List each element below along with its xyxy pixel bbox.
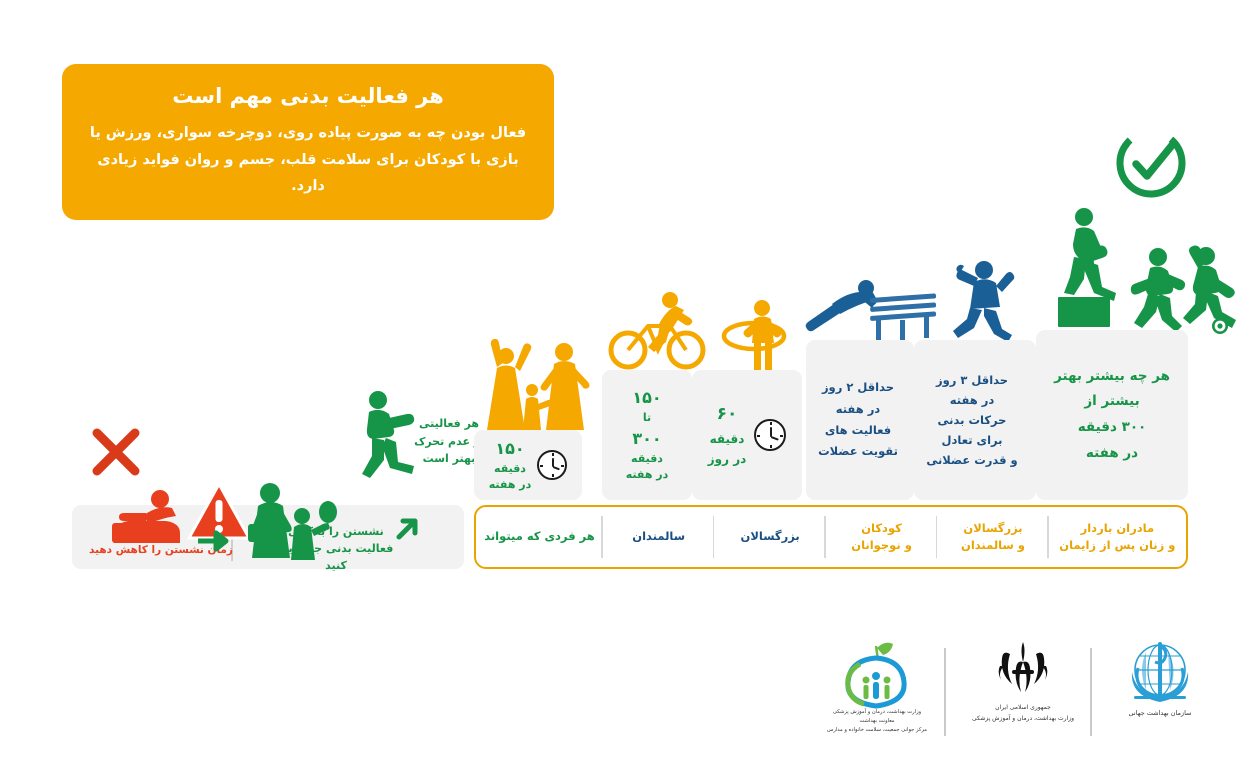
clock-icon <box>754 419 786 451</box>
panel-ae-line-0: ۱۵۰ <box>626 386 669 410</box>
panel-children-line-2: در روز <box>708 449 747 469</box>
footer-divider-1 <box>944 648 946 736</box>
panel-pregnant-line-2: در هفته <box>489 477 532 493</box>
panel-ae-line-3: دقیقه <box>626 451 669 468</box>
page-title: هر فعالیت بدنی مهم است <box>172 84 444 108</box>
panel-children-line-0: ۶۰ <box>708 400 747 429</box>
bench-pushup-figure-icon <box>806 270 946 340</box>
pregnant-mother-child-figures-icon <box>484 330 594 436</box>
panel-pregnant: ۱۵۰ دقیقه در هفته <box>474 430 582 500</box>
panel-ae-line-2: ۳۰۰ <box>626 427 669 451</box>
panel-children-text: ۶۰ دقیقه در روز <box>708 400 747 470</box>
panel-ae-line-4: در هفته <box>626 467 669 484</box>
panel-children-line-1: دقیقه <box>708 429 747 449</box>
step-up-figure-icon <box>1058 205 1128 327</box>
panel-am-line-3: در هفته <box>1054 441 1170 467</box>
iran-moh-emblem-caption: جمهوری اسلامی ایران وزارت بهداشت، درمان … <box>958 702 1088 725</box>
caption-line: مرکز جوانی جمعیت، سلامت خانواده و مدارس <box>812 726 942 735</box>
moh-family-health-logo: وزارت بهداشت، درمان و آموزش پزشکی معاونت… <box>812 640 942 740</box>
moh-family-health-caption: وزارت بهداشت، درمان و آموزش پزشکی معاونت… <box>812 708 942 735</box>
panel-pregnant-text: ۱۵۰ دقیقه در هفته <box>489 437 532 492</box>
panel-am-line-2: ۳۰۰ دقیقه <box>1054 415 1170 441</box>
caption-line: وزارت بهداشت، درمان و آموزش پزشکی <box>812 708 942 717</box>
header-subtitle: فعال بودن چه به صورت پیاده روی، دوچرخه س… <box>88 120 528 200</box>
arrow-up-right-icon <box>394 516 420 542</box>
iran-moh-emblem-logo: جمهوری اسلامی ایران وزارت بهداشت، درمان … <box>958 638 1088 738</box>
panel-as-line-2: فعالیت های <box>818 420 898 441</box>
header-subtitle-line-1: فعال بودن چه به صورت پیاده روی، دوچرخه س… <box>88 120 528 147</box>
panel-am-line-0: هر چه بیشتر بهتر <box>1054 364 1170 390</box>
replace-sitting-label: نشستن را با کمی فعالیت بدنی جایگزین کنید <box>272 523 400 559</box>
check-circle-icon <box>1112 124 1190 202</box>
who-logo: سازمان بهداشت جهانی <box>1100 636 1220 736</box>
panel-pregnant-line-0: ۱۵۰ <box>489 437 532 460</box>
panel-pregnant-line-1: دقیقه <box>489 461 532 477</box>
panel-children: ۶۰ دقیقه در روز <box>692 370 802 500</box>
step-walk-figure-icon <box>358 388 416 488</box>
soccer-player-figure-icon <box>1168 242 1256 334</box>
categories-bar: مادران باردار و زنان پس از زایمان بزرگسا… <box>474 505 1188 569</box>
clock-icon <box>537 450 567 480</box>
caption-line: جمهوری اسلامی ایران <box>958 702 1088 713</box>
panel-anyone-more: هر چه بیشتر بهتر بیشتر از ۳۰۰ دقیقه در ه… <box>1036 330 1188 500</box>
taichi-figure-icon <box>950 258 1014 342</box>
panel-eb-line-2: حرکات بدنی <box>926 410 1017 430</box>
panel-adults-elderly: ۱۵۰ تا ۳۰۰ دقیقه در هفته <box>602 370 692 500</box>
hula-hoop-figure-icon <box>716 296 794 376</box>
cyclist-figure-icon <box>608 288 708 370</box>
panel-adults-strength-text: حداقل ۲ روز در هفته فعالیت های تقویت عضل… <box>818 377 902 462</box>
footer-divider-2 <box>1090 648 1092 736</box>
panel-elderly-balance-text: حداقل ۳ روز در هفته حرکات بدنی برای تعاد… <box>926 370 1023 471</box>
panel-as-line-1: در هفته <box>818 399 898 420</box>
category-adults-elderly[interactable]: بزرگسالان و سالمندان <box>937 507 1048 567</box>
panel-eb-line-0: حداقل ۳ روز <box>926 370 1017 390</box>
arrow-right-icon <box>196 528 236 554</box>
caption-line: سازمان بهداشت جهانی <box>1100 708 1220 720</box>
caption-line: معاونت بهداشت <box>812 717 942 726</box>
header-banner: هر فعالیت بدنی مهم است فعال بودن چه به ص… <box>62 64 554 220</box>
category-elderly[interactable]: سالمندان <box>603 507 714 567</box>
cross-icon <box>88 424 144 480</box>
panel-elderly-balance: حداقل ۳ روز در هفته حرکات بدنی برای تعاد… <box>914 340 1036 500</box>
panel-eb-line-1: در هفته <box>926 390 1017 410</box>
panel-eb-line-4: و قدرت عضلانی <box>926 450 1017 470</box>
panel-anyone-more-text: هر چه بیشتر بهتر بیشتر از ۳۰۰ دقیقه در ه… <box>1054 364 1170 467</box>
panel-eb-line-3: برای تعادل <box>926 430 1017 450</box>
infographic-root: هر فعالیت بدنی مهم است فعال بودن چه به ص… <box>0 0 1260 768</box>
panel-am-line-1: بیشتر از <box>1054 389 1170 415</box>
panel-adults-strength: حداقل ۲ روز در هفته فعالیت های تقویت عضل… <box>806 340 914 500</box>
category-anyone[interactable]: هر فردی که میتواند <box>476 507 603 567</box>
category-pregnant-postpartum[interactable]: مادران باردار و زنان پس از زایمان <box>1049 507 1186 567</box>
panel-adults-elderly-text: ۱۵۰ تا ۳۰۰ دقیقه در هفته <box>626 386 669 484</box>
panel-ae-line-1: تا <box>626 410 669 427</box>
panel-as-line-0: حداقل ۲ روز <box>818 377 898 398</box>
who-caption: سازمان بهداشت جهانی <box>1100 708 1220 720</box>
caption-line: وزارت بهداشت، درمان و آموزش پزشکی <box>958 713 1088 724</box>
panel-as-line-3: تقویت عضلات <box>818 441 898 462</box>
replace-sitting-text: نشستن را با کمی فعالیت بدنی جایگزین کنید <box>272 523 400 574</box>
category-adults[interactable]: بزرگسالان <box>714 507 825 567</box>
header-subtitle-line-2: بازی با کودکان برای سلامت قلب، جسم و روا… <box>88 147 528 201</box>
category-children-teens[interactable]: کودکان و نوجوانان <box>826 507 937 567</box>
